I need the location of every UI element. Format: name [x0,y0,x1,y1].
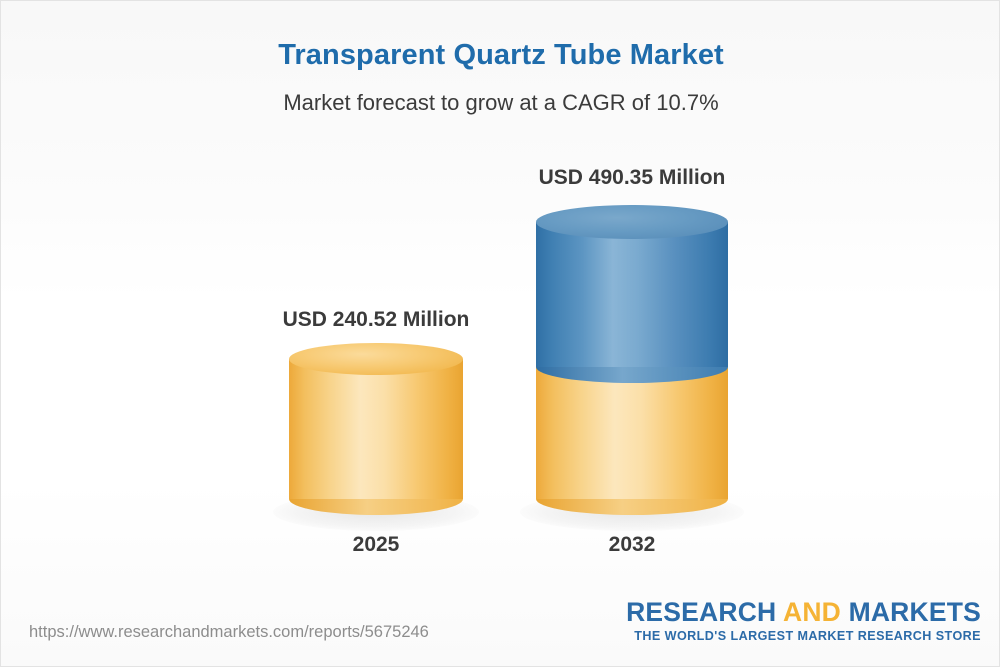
cylinder-2032-blue-body [536,222,728,367]
bar-2032[interactable] [536,205,728,523]
chart-page: Transparent Quartz Tube Market Market fo… [0,0,1000,667]
category-label-2032: 2032 [532,533,732,557]
cylinder-2025-yellow [289,343,463,523]
cylinder-2025-body [289,359,463,499]
logo-word-research: RESEARCH [626,597,783,627]
logo-wordmark: RESEARCH AND MARKETS [626,599,981,627]
logo-tagline: THE WORLD'S LARGEST MARKET RESEARCH STOR… [626,629,981,643]
value-label-2032: USD 490.35 Million [472,166,792,190]
report-url[interactable]: https://www.researchandmarkets.com/repor… [29,623,429,642]
research-and-markets-logo[interactable]: RESEARCH AND MARKETS THE WORLD'S LARGEST… [626,599,981,643]
logo-word-markets: MARKETS [841,597,981,627]
cylinder-2032-top-cap [536,205,728,239]
bar-2025[interactable] [289,343,463,523]
value-label-2025: USD 240.52 Million [216,308,536,332]
cylinder-2032-blue-segment [536,205,728,383]
category-label-2025: 2025 [276,533,476,557]
cylinder-2025-top-cap [289,343,463,375]
logo-word-and: AND [783,597,841,627]
cylinder-bar-chart: USD 240.52 Million 2025 USD 490.35 Milli… [1,1,1000,667]
